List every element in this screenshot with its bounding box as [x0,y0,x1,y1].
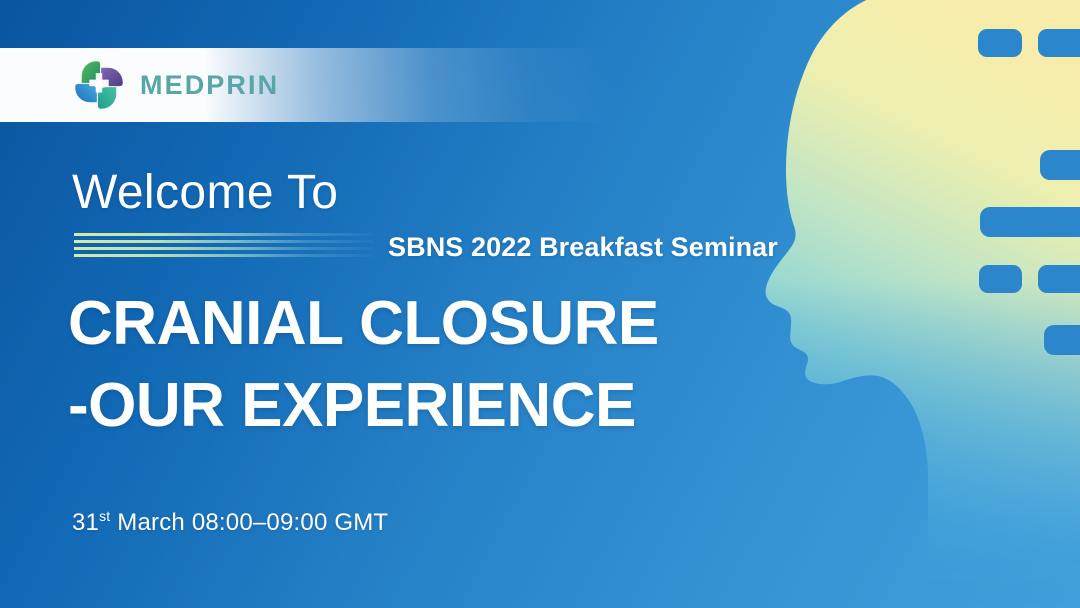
event-datetime: 31st March 08:00–09:00 GMT [72,509,388,537]
welcome-heading: Welcome To [72,168,338,218]
page-title: CRANIAL CLOSURE -OUR EXPERIENCE [68,283,659,447]
head-artwork-panel [760,0,1080,608]
data-bar [1038,265,1080,293]
data-bar [1044,325,1080,355]
seminar-subtitle: SBNS 2022 Breakfast Seminar [388,232,778,263]
accent-rule [74,240,374,243]
data-bar [978,29,1022,57]
event-date-rest: March 08:00–09:00 GMT [110,509,388,536]
accent-rule [74,233,374,236]
event-date-ordinal: st [99,508,110,524]
data-bar [980,207,1080,237]
event-date-day: 31 [72,509,99,536]
head-silhouette-icon [766,0,1080,608]
seminar-title-slide: MEDPRIN Welcome To SBNS 2022 Breakfast S… [0,0,1080,608]
medprin-pinwheel-cross-logo-icon [72,58,126,112]
accent-rule-stack [74,233,374,259]
accent-rule [74,254,374,257]
data-bar [1040,150,1080,180]
brand-logo: MEDPRIN [72,58,279,112]
data-bar [1038,29,1080,57]
accent-rule [74,247,374,250]
data-bar [979,265,1022,293]
data-bars-group [978,29,1080,355]
brand-wordmark: MEDPRIN [140,72,279,99]
head-profile-graphic [760,0,1080,608]
